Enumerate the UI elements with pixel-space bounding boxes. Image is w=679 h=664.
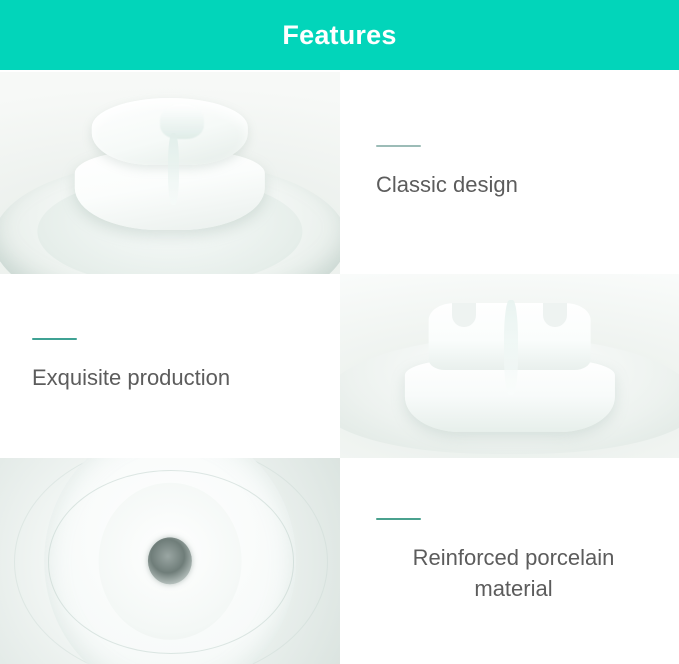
page-title: Features xyxy=(282,20,396,51)
fountain-water-stream xyxy=(168,133,179,206)
features-page: Features Classic design Exquisite produc… xyxy=(0,0,679,664)
feature-caption-classic-design: Classic design xyxy=(340,72,679,274)
feature-caption-exquisite-production: Exquisite production xyxy=(0,274,340,458)
feature-row-classic-design: Classic design xyxy=(0,72,679,274)
feature-row-reinforced-porcelain-material: Reinforced porcelain material xyxy=(0,458,679,664)
fountain-spout xyxy=(160,104,204,138)
product-photo-basin-topdown xyxy=(0,458,340,664)
product-photo-fountain-crown xyxy=(340,274,679,458)
fountain-notch-left xyxy=(452,303,476,327)
fountain-water-jet xyxy=(504,300,518,396)
accent-rule-classic-design xyxy=(376,145,421,147)
feature-caption-text-classic-design: Classic design xyxy=(376,169,651,200)
feature-image-reinforced-porcelain-material xyxy=(0,458,340,664)
accent-rule-exquisite-production xyxy=(32,338,77,340)
feature-row-exquisite-production: Exquisite production xyxy=(0,274,679,458)
feature-image-classic-design xyxy=(0,72,340,274)
product-photo-tiered-fountain xyxy=(0,72,340,274)
feature-image-exquisite-production xyxy=(340,274,679,458)
accent-rule-reinforced-porcelain-material xyxy=(376,518,421,520)
page-header: Features xyxy=(0,0,679,70)
feature-caption-reinforced-porcelain-material: Reinforced porcelain material xyxy=(340,458,679,664)
feature-caption-text-exquisite-production: Exquisite production xyxy=(32,362,316,393)
feature-caption-text-reinforced-porcelain-material: Reinforced porcelain material xyxy=(376,542,651,604)
